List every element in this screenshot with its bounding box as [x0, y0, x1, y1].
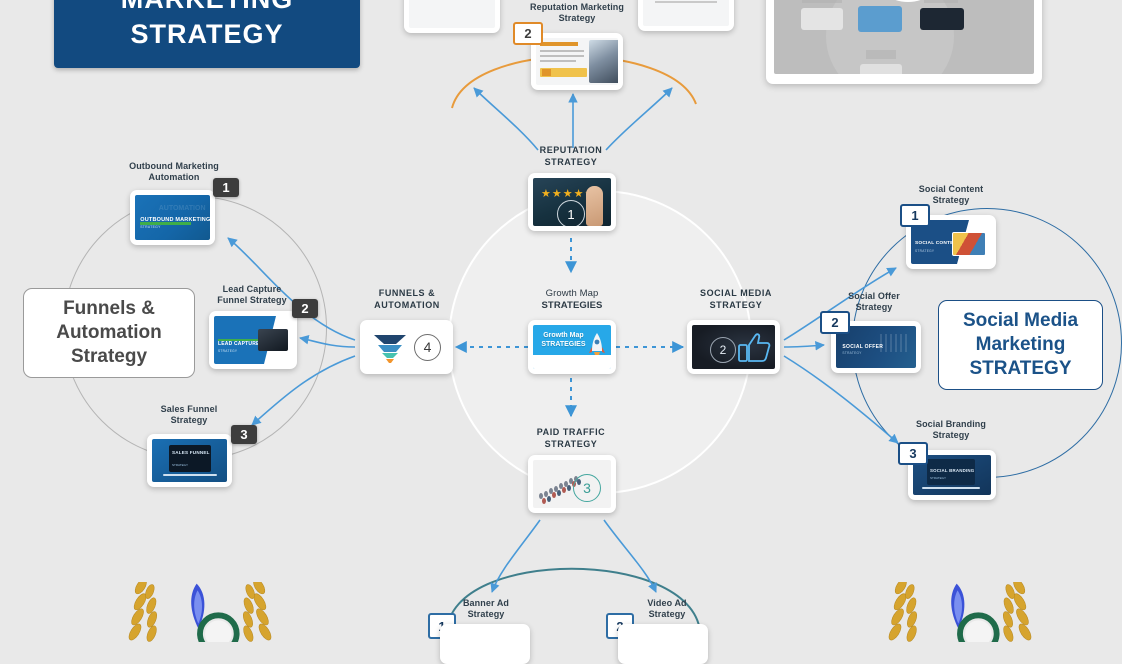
- center-node-social[interactable]: 2: [687, 320, 780, 374]
- funnels-plate-line-1: Funnels &: [63, 297, 155, 321]
- mini-tile-social: [920, 8, 964, 30]
- funnels-sub-tile-1[interactable]: AUTOMATION OUTBOUND MARKETING STRATEGY: [130, 190, 215, 245]
- mini-label-c: [924, 0, 958, 3]
- reputation-thumb-2: [536, 38, 618, 85]
- funnels-badge-1: 1: [213, 178, 239, 197]
- reputation-sub-tile-2[interactable]: [531, 33, 623, 90]
- funnels-sub-caption-3: Sales Funnel Strategy: [133, 404, 245, 426]
- growth-map-thumb-strong: STRATEGIES: [541, 341, 585, 348]
- circle-number-2: 2: [710, 337, 736, 363]
- social-badge-1: 1: [900, 204, 930, 227]
- social-plate-line-1: Social Media: [963, 309, 1078, 333]
- paid-sub-tile-2[interactable]: [618, 624, 708, 664]
- crowd-thumb: 3: [533, 460, 611, 508]
- funnels-plate-line-3: Strategy: [71, 345, 147, 369]
- social-plate: Social Media Marketing STRATEGY: [938, 300, 1103, 390]
- center-node-caption-reputation: REPUTATION STRATEGY: [511, 145, 631, 168]
- funnel-icon: [372, 331, 408, 363]
- center-node-funnels[interactable]: 4: [360, 320, 453, 374]
- mini-tile-funnel: [801, 8, 843, 30]
- reputation-sub-tile-3[interactable]: [638, 0, 734, 31]
- social-sub-caption-2: Social Offer Strategy: [818, 291, 930, 313]
- social-sub-caption-1: Social Content Strategy: [890, 184, 1012, 206]
- circle-number-1: 1: [557, 200, 585, 226]
- center-node-caption-social: SOCIAL MEDIA STRATEGY: [678, 288, 794, 311]
- funnels-badge-3: 3: [231, 425, 257, 444]
- center-node-caption-paid: PAID TRAFFIC STRATEGY: [513, 427, 629, 450]
- center-hub-caption-top: Growth Map: [546, 288, 599, 299]
- thumbs-up-icon: [737, 333, 771, 363]
- sales-funnel-thumb: SALES FUNNEL STRATEGY: [152, 439, 227, 482]
- circle-number-3: 3: [573, 474, 601, 502]
- reputation-sub-tile-1[interactable]: [404, 0, 500, 33]
- funnels-plate-line-2: Automation: [56, 321, 162, 345]
- reputation-thumb-1: [409, 0, 495, 28]
- paid-sub-caption-2: Video Ad Strategy: [620, 598, 714, 620]
- social-content-sub: STRATEGY: [915, 249, 934, 253]
- lead-capture-title: LEAD CAPTURE: [218, 341, 260, 347]
- lead-capture-sub: STRATEGY: [218, 349, 237, 353]
- diagram-canvas: MARKETING STRATEGY: [0, 0, 1122, 631]
- sales-funnel-title: SALES FUNNEL: [172, 450, 210, 456]
- funnels-sub-tile-3[interactable]: SALES FUNNEL STRATEGY: [147, 434, 232, 487]
- header-banner: MARKETING STRATEGY: [54, 0, 360, 68]
- growth-map-thumb-title: Growth Map: [543, 332, 583, 339]
- social-branding-sub: STRATEGY: [930, 476, 946, 480]
- center-node-growth-map[interactable]: Growth Map STRATEGIES: [528, 320, 616, 374]
- pointing-hand-icon: [586, 186, 603, 226]
- laurel-badge-right: [872, 582, 1048, 642]
- funnels-badge-2: 2: [292, 299, 318, 318]
- social-offer-sub: STRATEGY: [842, 351, 861, 355]
- center-node-caption-funnels: FUNNELS & AUTOMATION: [352, 288, 462, 311]
- outbound-thumb-sub: STRATEGY: [140, 225, 160, 229]
- social-offer-title: SOCIAL OFFER: [842, 344, 883, 350]
- social-plate-line-3: STRATEGY: [969, 357, 1071, 381]
- social-sub-caption-3: Social Branding Strategy: [890, 419, 1012, 441]
- social-dark-thumb: 2: [692, 325, 775, 369]
- reputation-badge-2: 2: [513, 22, 543, 45]
- laurel-badge-left: [112, 582, 288, 642]
- circle-number-4: 4: [414, 334, 441, 361]
- mini-tile-growth: [858, 6, 902, 32]
- social-plate-line-2: Marketing: [976, 333, 1066, 357]
- video-screen: [774, 0, 1034, 74]
- center-node-reputation[interactable]: ★★★★★ 1: [528, 173, 616, 231]
- growth-map-thumb: Growth Map STRATEGIES: [533, 325, 611, 369]
- mini-label-a: [802, 0, 842, 3]
- center-hub-caption-bottom: STRATEGIES: [542, 300, 603, 311]
- funnels-plate: Funnels & Automation Strategy: [23, 288, 195, 378]
- social-badge-2: 2: [820, 311, 850, 334]
- stars-thumb: ★★★★★ 1: [533, 178, 611, 226]
- sales-funnel-sub: STRATEGY: [172, 463, 188, 467]
- social-badge-3: 3: [898, 442, 928, 465]
- social-branding-title: SOCIAL BRANDING: [930, 468, 974, 473]
- paid-sub-tile-1[interactable]: [440, 624, 530, 664]
- outbound-thumb: AUTOMATION OUTBOUND MARKETING STRATEGY: [135, 195, 210, 240]
- banner-line-2: STRATEGY: [130, 19, 283, 50]
- reputation-sub-caption-2: Reputation Marketing Strategy: [506, 2, 648, 24]
- banner-line-1: MARKETING: [121, 0, 294, 15]
- funnels-sub-tile-2[interactable]: LEAD CAPTURE STRATEGY: [209, 311, 297, 369]
- outbound-thumb-ghost: AUTOMATION: [159, 205, 206, 212]
- mini-tile-paid: [860, 64, 902, 74]
- center-node-paid-traffic[interactable]: 3: [528, 455, 616, 513]
- video-player[interactable]: [766, 0, 1042, 84]
- center-hub-caption: Growth Map STRATEGIES: [517, 288, 627, 311]
- mini-label-d: [866, 50, 896, 59]
- reputation-thumb-3: [643, 0, 729, 26]
